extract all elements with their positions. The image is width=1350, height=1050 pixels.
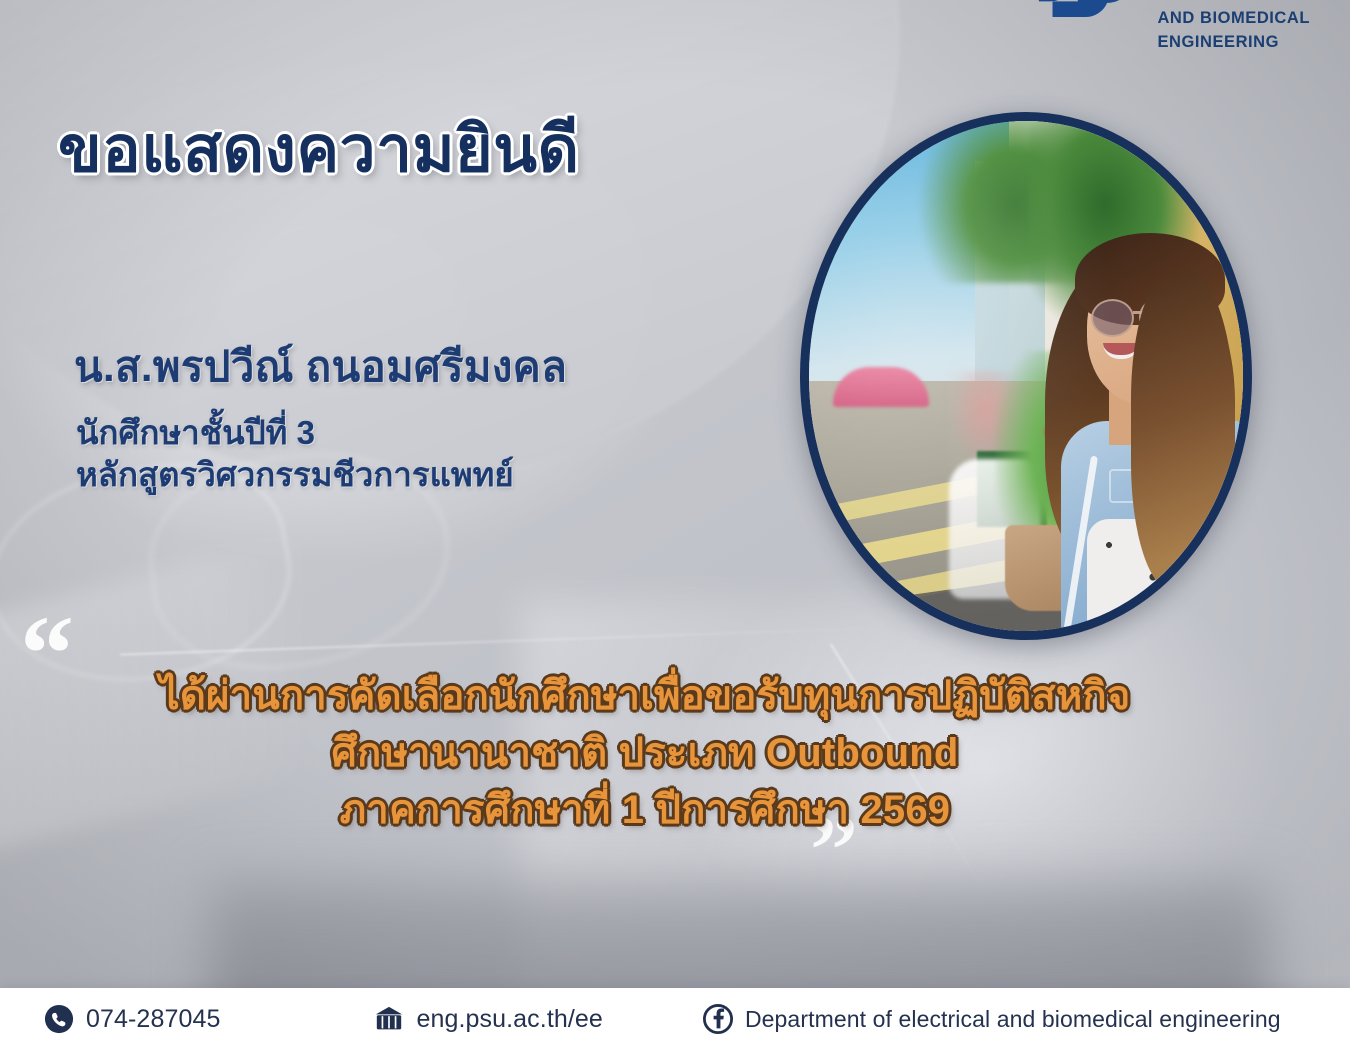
student-program: นักศึกษาชั้นปีที่ 3 หลักสูตรวิศวกรรมชีวก… bbox=[76, 412, 514, 496]
psu-logo-icon bbox=[1013, 0, 1131, 54]
globe-icon bbox=[374, 1004, 404, 1034]
award-description: ได้ผ่านการคัดเลือกนักศึกษาเพื่อขอรับทุนก… bbox=[0, 668, 1290, 838]
student-curriculum: หลักสูตรวิศวกรรมชีวการแพทย์ bbox=[76, 454, 514, 496]
department-name: ELECTRICAL AND BIOMEDICAL ENGINEERING bbox=[1157, 0, 1310, 54]
facebook-page-name: Department of electrical and biomedical … bbox=[745, 1006, 1281, 1033]
award-line-3: ภาคการศึกษาที่ 1 ปีการศึกษา 2569 bbox=[0, 782, 1290, 839]
congratulations-poster: ELECTRICAL AND BIOMEDICAL ENGINEERING ขอ… bbox=[0, 0, 1350, 1050]
contact-footer: 074-287045 eng.psu.ac.th/ee D bbox=[0, 988, 1350, 1050]
photo-soft-light bbox=[809, 121, 1243, 631]
dept-line-3: ENGINEERING bbox=[1157, 31, 1310, 54]
student-photo bbox=[800, 112, 1252, 640]
student-year: นักศึกษาชั้นปีที่ 3 bbox=[76, 412, 514, 454]
student-name: น.ส.พรปวีณ์ ถนอมศรีมงคล bbox=[74, 334, 567, 400]
contact-phone[interactable]: 074-287045 bbox=[44, 1004, 220, 1034]
website-url: eng.psu.ac.th/ee bbox=[416, 1005, 602, 1034]
brand-logo-block: ELECTRICAL AND BIOMEDICAL ENGINEERING bbox=[1013, 0, 1310, 54]
phone-icon bbox=[44, 1004, 74, 1034]
facebook-icon bbox=[703, 1004, 733, 1034]
page-title: ขอแสดงความยินดี bbox=[58, 116, 580, 183]
contact-facebook[interactable]: Department of electrical and biomedical … bbox=[703, 1004, 1281, 1034]
contact-website[interactable]: eng.psu.ac.th/ee bbox=[374, 1004, 602, 1034]
phone-number: 074-287045 bbox=[86, 1005, 220, 1034]
dept-line-1: ELECTRICAL bbox=[1157, 0, 1310, 7]
award-line-2: ศึกษานานาชาติ ประเภท Outbound bbox=[0, 725, 1290, 782]
award-line-1: ได้ผ่านการคัดเลือกนักศึกษาเพื่อขอรับทุนก… bbox=[0, 668, 1290, 725]
dept-line-2: AND BIOMEDICAL bbox=[1157, 7, 1310, 30]
